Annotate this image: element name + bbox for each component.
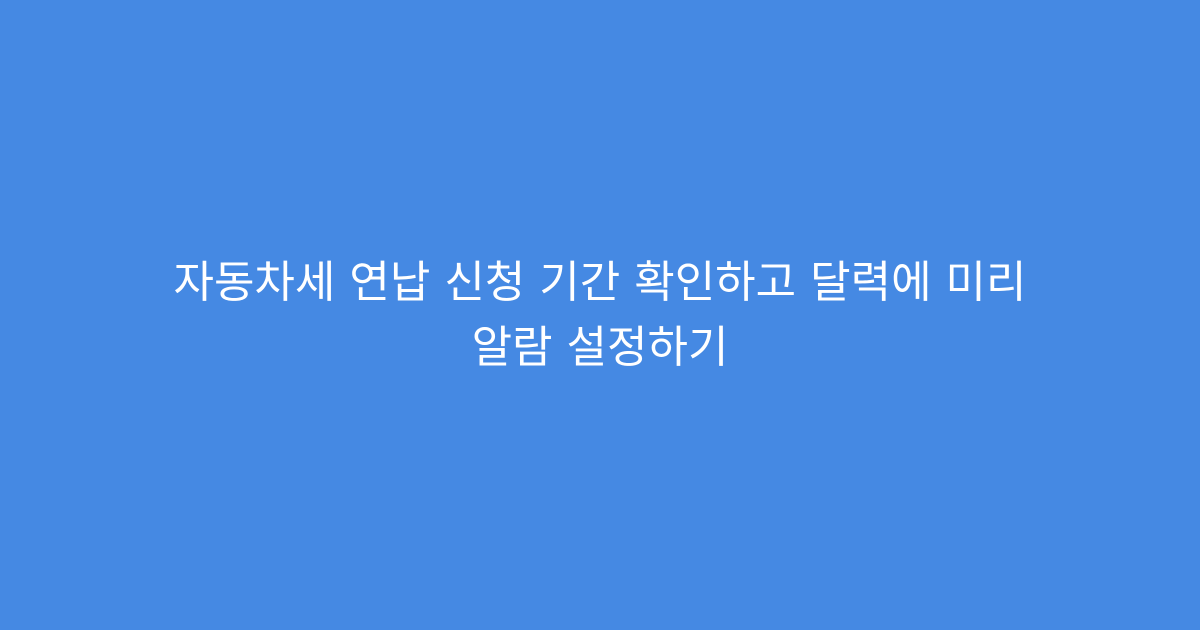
title-line-2: 알람 설정하기 bbox=[90, 315, 1110, 380]
title-line-1: 자동차세 연납 신청 기간 확인하고 달력에 미리 bbox=[90, 250, 1110, 315]
page-title: 자동차세 연납 신청 기간 확인하고 달력에 미리 알람 설정하기 bbox=[0, 250, 1200, 380]
og-banner-card: 자동차세 연납 신청 기간 확인하고 달력에 미리 알람 설정하기 bbox=[0, 0, 1200, 630]
